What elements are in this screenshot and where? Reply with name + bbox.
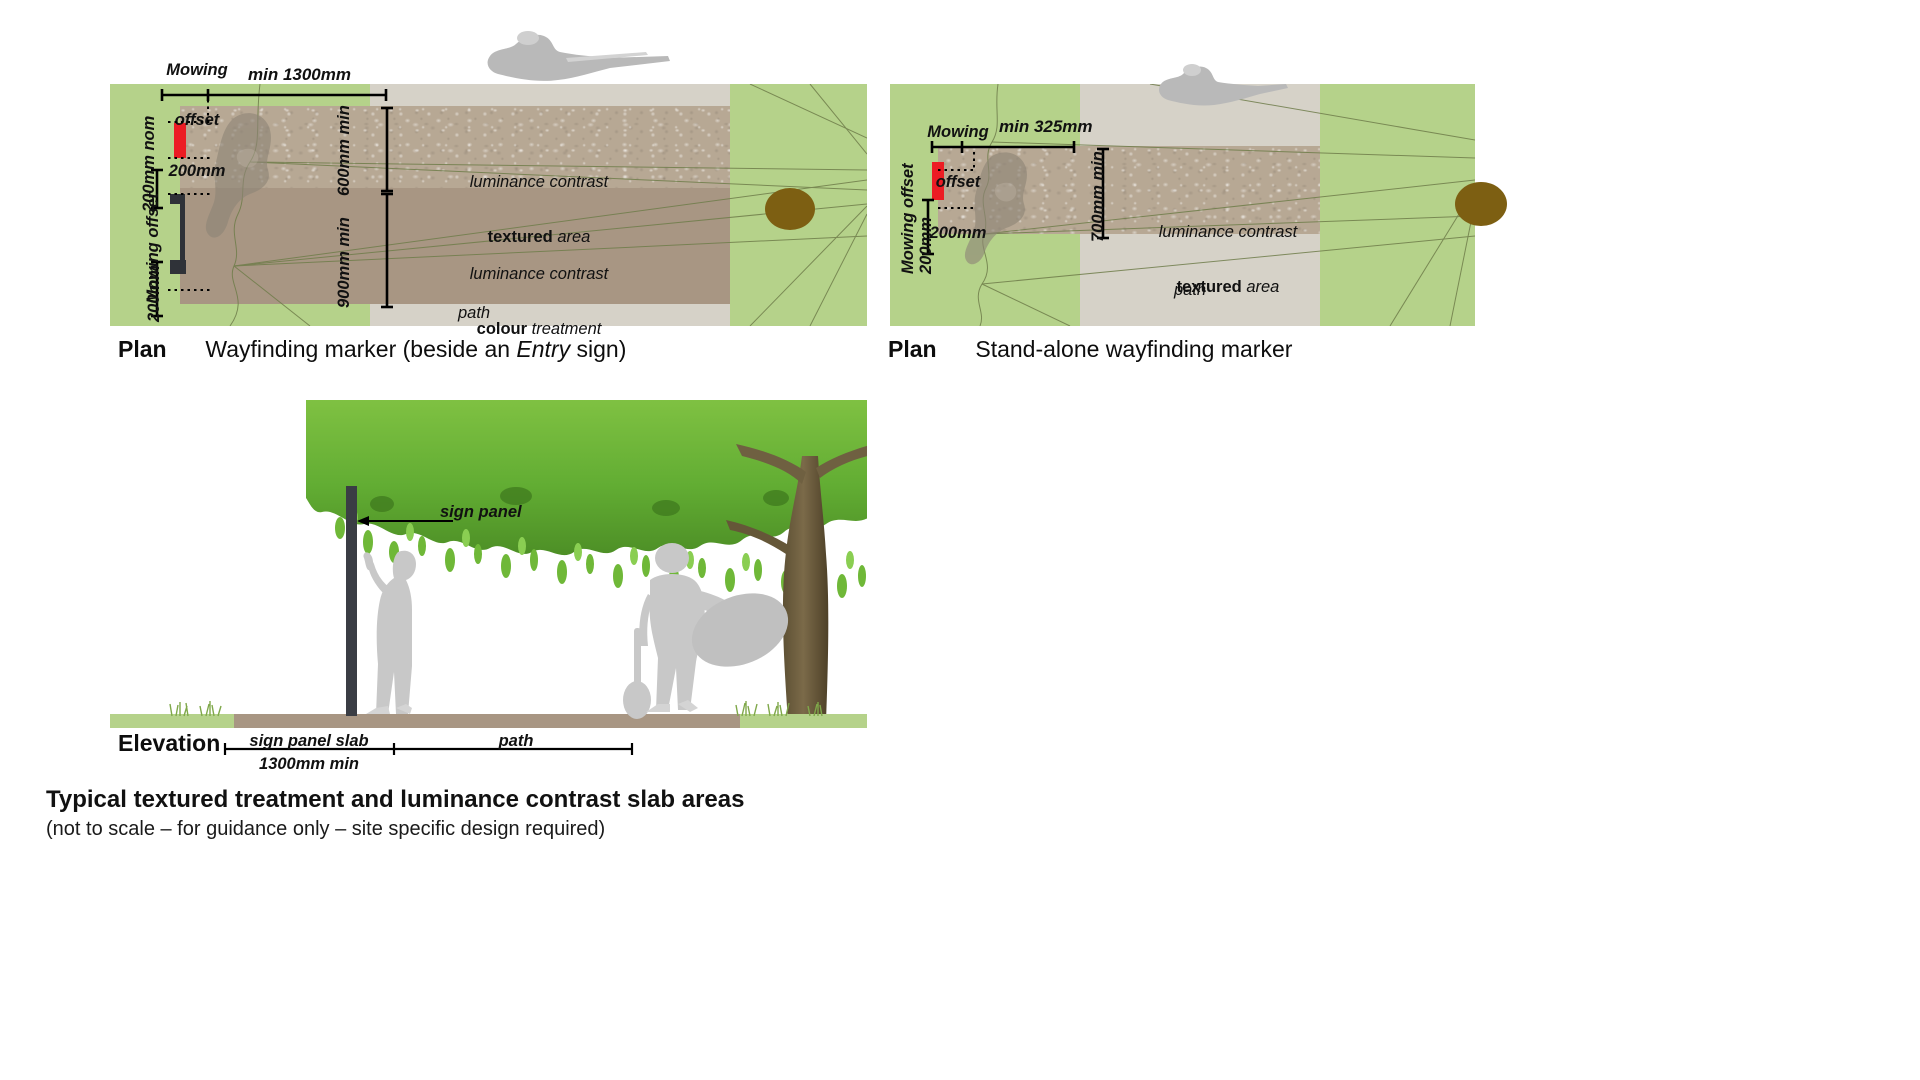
tree-plan-symbol-right: [1455, 182, 1507, 226]
note-textured-line1-left: luminance contrast: [424, 173, 654, 191]
note-path-right: path: [1174, 281, 1206, 299]
figure-title: Typical textured treatment and luminance…: [46, 786, 744, 814]
vehicle-silhouette-left: [470, 28, 675, 90]
label-900mm-min-left: 900mm min: [336, 217, 353, 308]
min-width-label-right: min 325mm: [999, 118, 1093, 135]
note-textured-line1-right: luminance contrast: [1113, 223, 1343, 241]
caption-kind-left: Plan: [118, 336, 167, 362]
person-with-surfboard-elevation: [612, 542, 802, 718]
label-sign-panel-annotation: sign panel: [440, 504, 522, 521]
note-path-left: path: [458, 304, 490, 322]
label-path-elevation: path: [396, 733, 636, 750]
caption-desc-left: Wayfinding marker (beside an Entry sign): [205, 336, 626, 362]
caption-desc-pre-left: Wayfinding marker (beside an: [205, 336, 516, 362]
caption-elevation: Elevation: [118, 730, 220, 757]
min-width-label-left: min 1300mm: [248, 66, 351, 83]
caption-kind-right: Plan: [888, 336, 937, 362]
caption-plan-right: Plan Stand-alone wayfinding marker: [888, 336, 1292, 363]
person-reading-sign-elevation: [354, 546, 434, 716]
label-mowing-offset-value-right: 200mm: [918, 217, 935, 274]
note-textured-area-right: luminance contrast textured area: [1113, 186, 1343, 334]
caption-kind-elevation: Elevation: [118, 730, 220, 756]
mowing-offset-word-1: Mowing: [166, 62, 228, 79]
dimension-line-600mm-left: [380, 105, 394, 195]
caption-desc-right: Stand-alone wayfinding marker: [975, 336, 1292, 362]
label-600mm-min-left: 600mm min: [336, 105, 353, 196]
label-sign-panel-slab-width: 1300mm min: [224, 756, 394, 773]
dimension-line-900mm-left: [380, 192, 394, 312]
mowing-offset-word-1-right: Mowing: [925, 124, 991, 141]
label-mowing-offset-lower-value-left: 200mm: [146, 265, 163, 322]
caption-desc-em-left: Entry: [516, 336, 570, 362]
dotted-leaders-left-plan: [168, 100, 288, 330]
note-colour-line1-left: luminance contrast: [415, 265, 663, 283]
note-textured-rest-right: area: [1242, 278, 1280, 296]
figure-root: Mowing offset 200mm min 1300mm 200mm nom…: [0, 0, 1920, 1080]
figure-subtitle: (not to scale – for guidance only – site…: [46, 818, 605, 841]
dotted-leaders-right-plan: [938, 152, 1040, 222]
label-sign-panel-slab: sign panel slab: [224, 733, 394, 750]
elevation-diagram: [110, 400, 867, 730]
caption-desc-post-left: sign): [570, 336, 626, 362]
label-700mm-min-right: 700mm min: [1090, 151, 1107, 242]
caption-plan-left: Plan Wayfinding marker (beside an Entry …: [118, 336, 626, 363]
vehicle-silhouette-right: [1148, 62, 1290, 114]
tree-plan-symbol-left: [765, 188, 815, 230]
label-mowing-offset-right: Mowing offset: [900, 163, 917, 274]
